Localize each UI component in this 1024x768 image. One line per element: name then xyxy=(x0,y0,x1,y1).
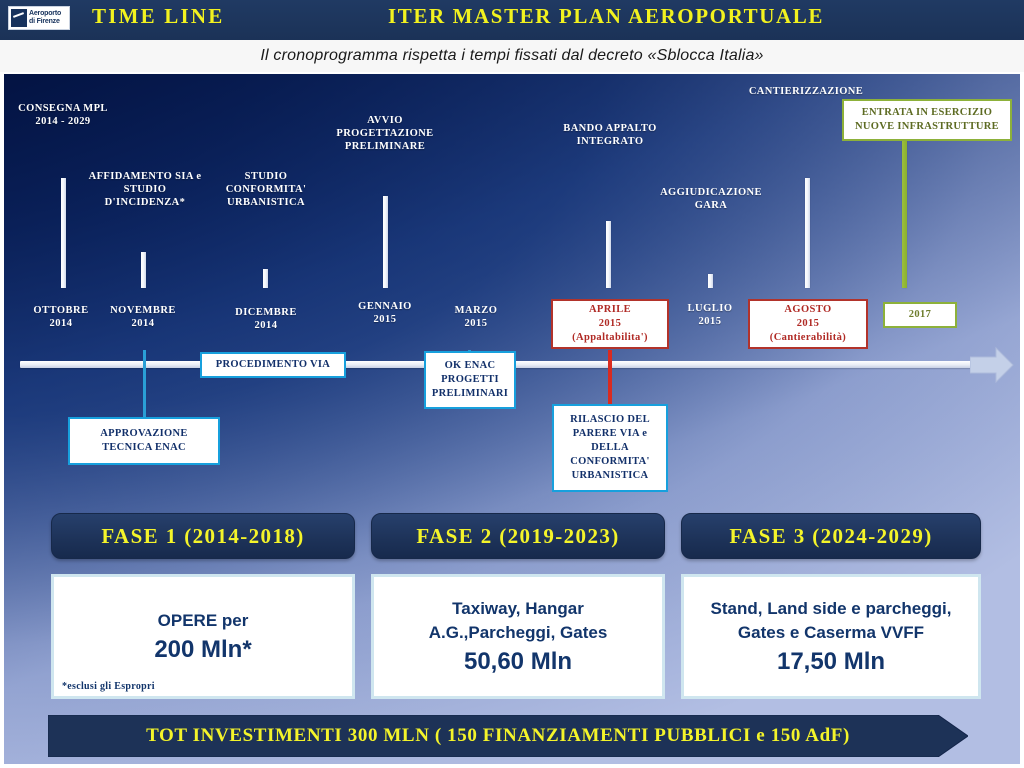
event-line: CANTIERIZZAZIONE xyxy=(721,85,891,98)
stem-entrata-in-esercizio xyxy=(902,140,907,288)
callout-text: PROCEDIMENTO VIA xyxy=(210,355,336,375)
phase-line: OPERE per xyxy=(158,609,249,633)
month-label-dicembre: DICEMBRE 2014 xyxy=(219,306,313,332)
phase-card-3: Stand, Land side e parcheggi, Gates e Ca… xyxy=(681,574,981,699)
subtitle: Il cronoprogramma rispetta i tempi fissa… xyxy=(0,40,1024,72)
page-title-left: TIME LINE xyxy=(92,4,224,29)
month-year: 2015 xyxy=(339,313,431,326)
phase-header-1[interactable]: FASE 1 (2014-2018) xyxy=(51,513,355,559)
month-box-name: APRILE xyxy=(589,303,631,317)
stem-bando-appalto xyxy=(606,221,611,288)
month-name: MARZO xyxy=(434,304,518,317)
aeroporto-di-firenze-logo: Aeroporto di Firenze xyxy=(8,6,70,30)
airplane-logo-icon xyxy=(11,9,27,27)
month-box-year: 2015 xyxy=(797,317,820,331)
callout-text: OK ENAC PROGETTI PRELIMINARI xyxy=(426,356,514,404)
month-year: 2014 xyxy=(96,317,190,330)
phase-header-2[interactable]: FASE 2 (2019-2023) xyxy=(371,513,665,559)
event-line: AFFIDAMENTO SIA e STUDIO D'INCIDENZA* xyxy=(78,170,212,209)
month-box-name: 2017 xyxy=(909,308,932,322)
phase-line: Taxiway, Hangar xyxy=(452,597,584,621)
stem-aggiudicazione-gara xyxy=(708,274,713,288)
connector-approvazione-enac xyxy=(143,350,146,422)
month-name: GENNAIO xyxy=(339,300,431,313)
month-box-note: (Appaltabilita') xyxy=(572,331,648,345)
month-box-note: (Cantierabilità) xyxy=(770,331,846,345)
phase-card-2: Taxiway, Hangar A.G.,Parcheggi, Gates 50… xyxy=(371,574,665,699)
event-label-studio-conformita: STUDIO CONFORMITA' URBANISTICA xyxy=(207,170,325,209)
event-label-affidamento-sia: AFFIDAMENTO SIA e STUDIO D'INCIDENZA* xyxy=(78,170,212,209)
month-name: DICEMBRE xyxy=(219,306,313,319)
event-label-bando-appalto: BANDO APPALTO INTEGRATO xyxy=(536,122,684,148)
stem-consegna-mpl xyxy=(61,178,66,288)
callout-text: RILASCIO DEL PARERE VIA e DELLA CONFORMI… xyxy=(564,410,656,486)
event-line: BANDO APPALTO INTEGRATO xyxy=(536,122,684,148)
callout-text: ENTRATA IN ESERCIZIO NUOVE INFRASTRUTTUR… xyxy=(849,103,1005,137)
phase-card-1: OPERE per 200 Mln* *esclusi gli Espropri xyxy=(51,574,355,699)
phase-amount: 200 Mln* xyxy=(154,635,251,665)
callout-entrata-in-esercizio[interactable]: ENTRATA IN ESERCIZIO NUOVE INFRASTRUTTUR… xyxy=(842,99,1012,141)
callout-text: APPROVAZIONE TECNICA ENAC xyxy=(94,424,193,458)
month-label-gennaio: GENNAIO 2015 xyxy=(339,300,431,326)
month-year: 2015 xyxy=(434,317,518,330)
phase-line: A.G.,Parcheggi, Gates xyxy=(429,621,608,645)
stem-affidamento-sia xyxy=(141,252,146,288)
logo-text: Aeroporto di Firenze xyxy=(29,10,61,26)
header-bar: Aeroporto di Firenze TIME LINE ITER MAST… xyxy=(0,0,1024,40)
month-year: 2015 xyxy=(672,315,748,328)
connector-rilascio-parere xyxy=(608,350,612,406)
month-label-ottobre: OTTOBRE 2014 xyxy=(16,304,106,330)
timeline-canvas: CONSEGNA MPL 2014 - 2029 AFFIDAMENTO SIA… xyxy=(4,74,1020,764)
month-label-marzo: MARZO 2015 xyxy=(434,304,518,330)
event-line: CONSEGNA MPL 2014 - 2029 xyxy=(4,102,122,128)
event-line: STUDIO CONFORMITA' URBANISTICA xyxy=(207,170,325,209)
stem-studio-conformita xyxy=(263,269,268,288)
month-year: 2014 xyxy=(219,319,313,332)
logo-line-2: di Firenze xyxy=(29,18,61,26)
event-line: AGGIUDICAZIONE GARA xyxy=(641,186,781,212)
month-label-novembre: NOVEMBRE 2014 xyxy=(96,304,190,330)
event-label-consegna-mpl: CONSEGNA MPL 2014 - 2029 xyxy=(4,102,122,128)
month-box-2017[interactable]: 2017 xyxy=(883,302,957,328)
page-title-right: ITER MASTER PLAN AEROPORTUALE xyxy=(388,4,824,29)
event-label-avvio-progettazione: AVVIO PROGETTAZIONE PRELIMINARE xyxy=(314,114,456,153)
phase-line: Stand, Land side e parcheggi, xyxy=(711,597,952,621)
event-label-cantierizzazione: CANTIERIZZAZIONE xyxy=(721,85,891,98)
event-line: AVVIO PROGETTAZIONE PRELIMINARE xyxy=(314,114,456,153)
stem-avvio-progettazione xyxy=(383,196,388,288)
callout-rilascio-parere-via[interactable]: RILASCIO DEL PARERE VIA e DELLA CONFORMI… xyxy=(552,404,668,492)
month-box-agosto[interactable]: AGOSTO 2015 (Cantierabilità) xyxy=(748,299,868,349)
phase-line: Gates e Caserma VVFF xyxy=(738,621,924,645)
event-label-aggiudicazione-gara: AGGIUDICAZIONE GARA xyxy=(641,186,781,212)
phase-note: *esclusi gli Espropri xyxy=(62,681,155,692)
callout-approvazione-tecnica-enac[interactable]: APPROVAZIONE TECNICA ENAC xyxy=(68,417,220,465)
month-name: NOVEMBRE xyxy=(96,304,190,317)
timeline-arrow-icon xyxy=(970,346,1014,384)
month-name: LUGLIO xyxy=(672,302,748,315)
month-year: 2014 xyxy=(16,317,106,330)
callout-ok-enac-progetti-preliminari[interactable]: OK ENAC PROGETTI PRELIMINARI xyxy=(424,351,516,409)
slide-root: Aeroporto di Firenze TIME LINE ITER MAST… xyxy=(0,0,1024,768)
month-name: OTTOBRE xyxy=(16,304,106,317)
phase-amount: 50,60 Mln xyxy=(464,647,572,677)
month-box-name: AGOSTO xyxy=(784,303,831,317)
stem-cantierizzazione xyxy=(805,178,810,288)
logo-line-1: Aeroporto xyxy=(29,10,61,18)
month-box-year: 2015 xyxy=(599,317,622,331)
phase-header-3[interactable]: FASE 3 (2024-2029) xyxy=(681,513,981,559)
callout-procedimento-via[interactable]: PROCEDIMENTO VIA xyxy=(200,352,346,378)
month-label-luglio: LUGLIO 2015 xyxy=(672,302,748,328)
month-box-aprile[interactable]: APRILE 2015 (Appaltabilita') xyxy=(551,299,669,349)
phase-amount: 17,50 Mln xyxy=(777,647,885,677)
